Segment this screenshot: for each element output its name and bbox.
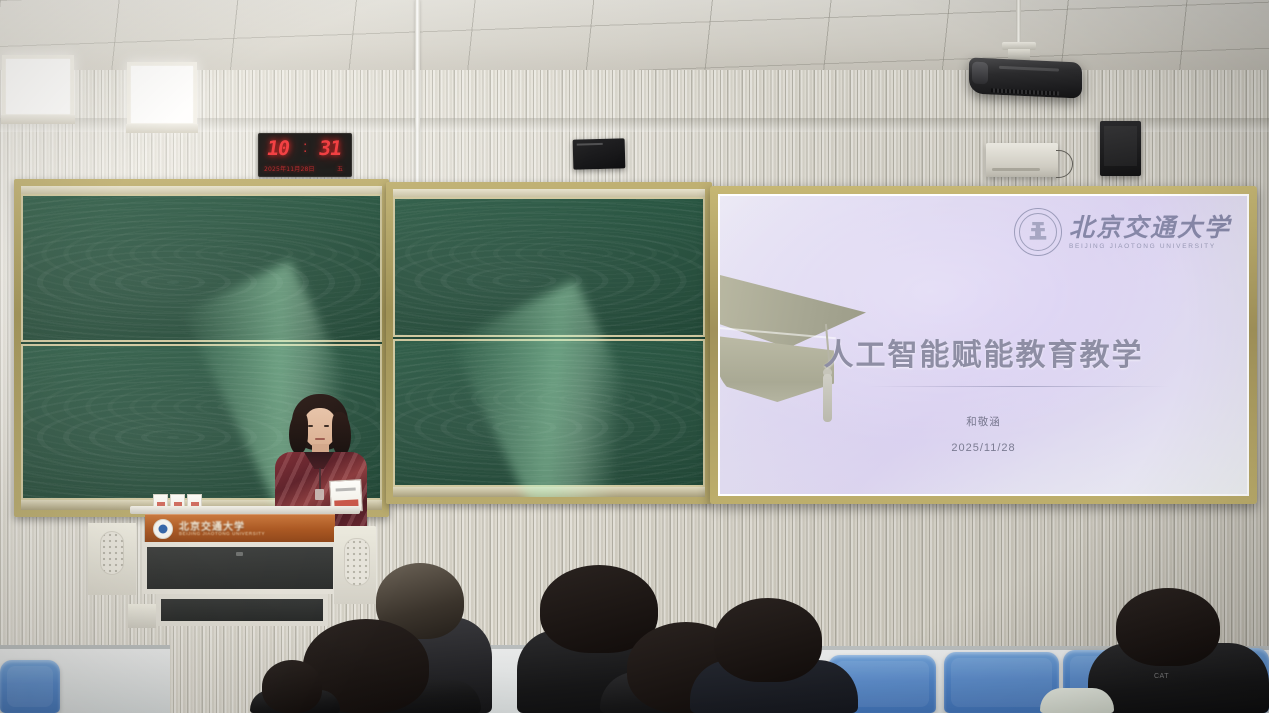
blackboard-panel-lower	[393, 339, 705, 487]
clock-day-of-week: 五	[337, 164, 343, 173]
seat[interactable]	[0, 660, 60, 713]
projection-screen: 北京交通大学 BEIJING JIAOTONG UNIVERSITY 人工智能赋…	[718, 194, 1249, 496]
desk-edge	[0, 645, 170, 649]
presenter-lanyard	[319, 468, 321, 490]
window-sill	[126, 124, 198, 133]
university-crest-icon	[153, 519, 173, 539]
presenter-eye-right	[324, 425, 329, 427]
clock-hours: 10	[265, 136, 291, 160]
presenter-badge	[315, 489, 324, 500]
window-glass	[6, 59, 70, 114]
chalk-smear	[23, 196, 380, 340]
blackboard-center-inner	[393, 189, 705, 497]
projector-vent	[991, 88, 1059, 95]
clock-colon: :	[303, 139, 307, 157]
sign-text-line	[336, 487, 356, 491]
wall-speaker-right	[1100, 121, 1141, 176]
logo-chinese-name: 北京交通大学	[1069, 215, 1231, 240]
lectern-top-surface	[130, 506, 360, 514]
lectern: 北京交通大学 BEIJING JIAOTONG UNIVERSITY	[128, 506, 362, 626]
clock-date: 2025年11月28日	[264, 164, 315, 173]
lectern-base	[156, 594, 328, 626]
audience-member-head	[1116, 588, 1220, 666]
audience-member-head	[262, 660, 322, 713]
presenter-hair-left	[289, 412, 308, 454]
university-logo: 北京交通大学 BEIJING JIAOTONG UNIVERSITY	[1014, 208, 1231, 256]
presentation-slide: 北京交通大学 BEIJING JIAOTONG UNIVERSITY 人工智能赋…	[720, 196, 1247, 494]
jacket-brand-text: CAT	[1154, 673, 1169, 680]
blackboard-panel-upper	[21, 194, 382, 342]
projection-screen-frame: 北京交通大学 BEIJING JIAOTONG UNIVERSITY 人工智能赋…	[710, 186, 1257, 504]
ceiling-projector-icon	[969, 57, 1082, 98]
lectern-body	[142, 542, 338, 594]
chalk-tray	[393, 487, 705, 497]
presenter-hair-right	[332, 412, 351, 456]
projector-mount-rod	[1016, 0, 1021, 44]
lectern-speaker-grille-icon	[344, 538, 370, 586]
chalk-smear	[395, 341, 703, 485]
chalk-smear	[395, 199, 703, 335]
led-wall-clock: 10 : 31 2025年11月28日 五	[258, 133, 352, 177]
window-right	[127, 62, 197, 127]
slide-divider	[868, 386, 1169, 387]
blackboard-center	[386, 182, 712, 504]
lectern-banner: 北京交通大学 BEIJING JIAOTONG UNIVERSITY	[145, 514, 335, 542]
blackboard-top-rail	[21, 186, 382, 194]
white-equipment-box	[986, 143, 1058, 177]
logo-english-name: BEIJING JIAOTONG UNIVERSITY	[1069, 243, 1231, 250]
window-left	[2, 55, 74, 118]
blackboard-top-rail	[393, 189, 705, 197]
window-sill	[1, 115, 75, 124]
slide-date: 2025/11/28	[720, 442, 1247, 454]
slide-title: 人工智能赋能教育教学	[720, 330, 1247, 374]
window-glass	[131, 66, 193, 123]
lectern-banner-english: BEIJING JIAOTONG UNIVERSITY	[179, 531, 265, 536]
wall-speaker-grille-icon	[100, 531, 124, 575]
slide-author: 和敬涵	[720, 414, 1247, 429]
blackboard-panel-upper	[393, 197, 705, 337]
clock-minutes: 31	[317, 136, 343, 160]
black-wall-device-icon	[573, 138, 626, 169]
presenter-eye-left	[308, 425, 313, 427]
university-seal-icon	[1014, 208, 1062, 256]
seal-emblem	[1029, 222, 1047, 242]
audience-member-body	[1040, 688, 1114, 713]
audience-member-head	[714, 598, 822, 682]
classroom-photo: 10 : 31 2025年11月28日 五	[0, 0, 1269, 713]
lectern-foot	[128, 604, 156, 628]
